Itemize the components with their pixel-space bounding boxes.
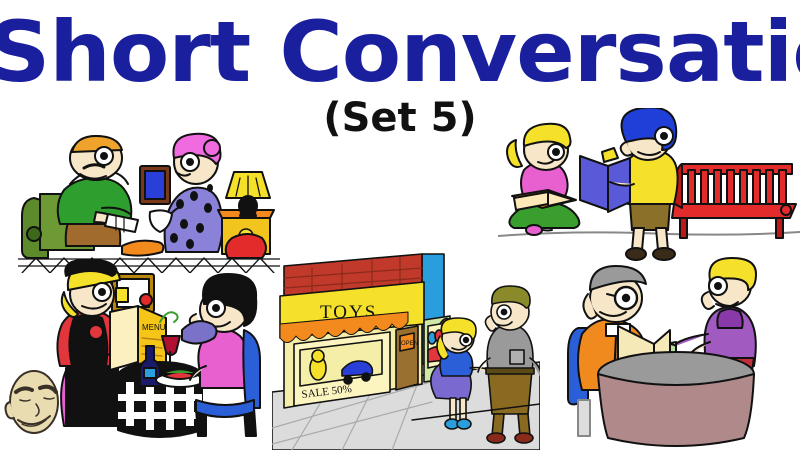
man-figure bbox=[58, 136, 138, 246]
orange-cushion bbox=[122, 241, 163, 256]
toy-store-drawing: TOYS SALE 50% bbox=[272, 252, 540, 450]
bald-face-drawing bbox=[2, 362, 64, 438]
living-room-drawing bbox=[18, 128, 280, 273]
page-title: Short Conversations bbox=[0, 6, 800, 98]
red-park-bench bbox=[668, 164, 796, 238]
napkin bbox=[182, 321, 217, 343]
illustration-living-room bbox=[18, 128, 280, 273]
open-sign-text: OPEN bbox=[401, 341, 418, 347]
store-window-left: SALE 50% bbox=[294, 332, 390, 406]
office-drawing bbox=[560, 250, 800, 450]
svg-text:MENU: MENU bbox=[142, 323, 166, 332]
red-ottoman bbox=[226, 234, 266, 258]
framed-picture bbox=[140, 166, 170, 204]
girl-sitting-reading bbox=[507, 124, 579, 235]
illustration-bald-man-face bbox=[2, 362, 64, 438]
round-table bbox=[598, 352, 754, 446]
store-door: OPEN bbox=[396, 326, 418, 390]
slide-canvas: Short Conversations (Set 5) bbox=[0, 0, 800, 450]
blue-book bbox=[580, 148, 630, 212]
page-subtitle: (Set 5) bbox=[0, 96, 800, 140]
illustration-toy-store: TOYS SALE 50% bbox=[272, 252, 540, 450]
ground-line bbox=[498, 232, 800, 236]
title-block: Short Conversations (Set 5) bbox=[0, 0, 800, 140]
illustration-office-meeting bbox=[560, 250, 800, 450]
